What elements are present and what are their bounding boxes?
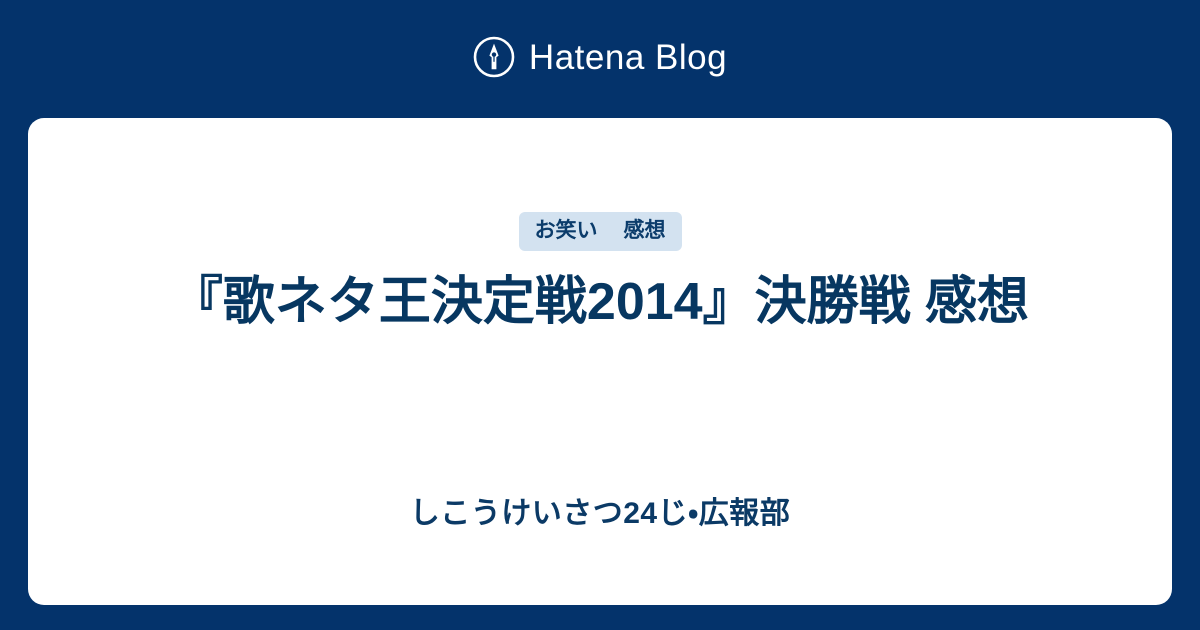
category-tag-row: お笑い 感想 bbox=[519, 212, 682, 251]
ogp-card-canvas: Hatena Blog お笑い 感想 『歌ネタ王決定戦2014』決勝戦 感想 し… bbox=[0, 0, 1200, 630]
blog-title: しこうけいさつ24じ・広報部 bbox=[28, 494, 1172, 533]
category-tag-owarai[interactable]: お笑い bbox=[535, 218, 598, 243]
brand-lockup[interactable]: Hatena Blog bbox=[473, 36, 727, 78]
entry-title: 『歌ネタ王決定戦2014』決勝戦 感想 bbox=[111, 265, 1089, 339]
entry-card: お笑い 感想 『歌ネタ王決定戦2014』決勝戦 感想 しこうけいさつ24じ・広報… bbox=[28, 118, 1172, 605]
category-tag-kanso[interactable]: 感想 bbox=[624, 218, 666, 243]
hatena-fountain-pen-icon bbox=[473, 36, 515, 78]
category-tag-pill: お笑い 感想 bbox=[519, 212, 682, 251]
hatena-blog-brand-bar: Hatena Blog bbox=[0, 0, 1200, 118]
hatena-blog-wordmark: Hatena Blog bbox=[529, 40, 727, 75]
